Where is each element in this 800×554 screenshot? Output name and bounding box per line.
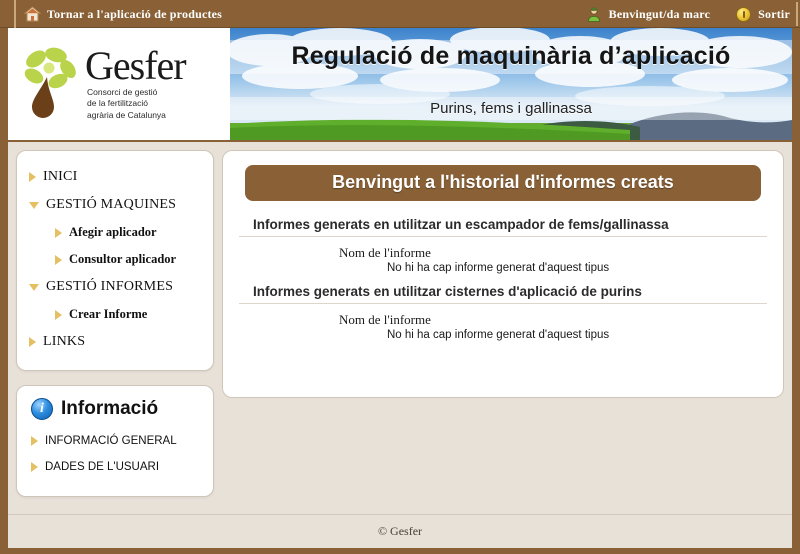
top-bar: Tornar a l'aplicació de productes Benvin… bbox=[0, 0, 800, 28]
logout-button[interactable]: Sortir bbox=[736, 7, 790, 22]
info-panel-header: i Informació bbox=[27, 396, 203, 428]
column-header-report-name: Nom de l'informe bbox=[239, 312, 767, 328]
sidebar-item-label: DADES DE L'USUARI bbox=[45, 461, 159, 473]
arrow-right-icon bbox=[55, 255, 62, 265]
empty-state-message: No hi ha cap informe generat d'aquest ti… bbox=[239, 262, 767, 274]
sidebar-item-inici[interactable]: INICI bbox=[25, 163, 205, 191]
banner-title: Regulació de maquinària d’aplicació bbox=[230, 42, 792, 71]
sidebar-item-label: Consultor aplicador bbox=[69, 252, 176, 267]
report-section: Informes generats en utilitzar un escamp… bbox=[239, 217, 767, 284]
sidebar-item-dades-usuari[interactable]: DADES DE L'USUARI bbox=[27, 454, 203, 480]
header-band: Gesfer Consorci de gestió de la fertilit… bbox=[8, 28, 792, 142]
sidebar-item-gestio-informes[interactable]: GESTIÓ INFORMES bbox=[25, 273, 205, 301]
sidebar-menu-panel: INICI GESTIÓ MAQUINES Afegir aplicador C… bbox=[16, 150, 214, 371]
sidebar-item-links[interactable]: LINKS bbox=[25, 328, 205, 356]
footer: © Gesfer bbox=[8, 514, 792, 548]
brand-tagline-line2: de la fertilització bbox=[87, 98, 186, 109]
top-bar-right: Benvingut/da marc Sortir bbox=[586, 0, 790, 28]
info-panel-title: Informació bbox=[61, 398, 158, 420]
sidebar-info-panel: i Informació INFORMACIÓ GENERAL DADES DE… bbox=[16, 385, 214, 497]
arrow-right-icon bbox=[29, 337, 36, 347]
gesfer-flower-logo-icon bbox=[20, 43, 82, 125]
body-area: INICI GESTIÓ MAQUINES Afegir aplicador C… bbox=[8, 144, 792, 548]
sidebar-item-informacio-general[interactable]: INFORMACIÓ GENERAL bbox=[27, 428, 203, 454]
sidebar-item-label: Afegir aplicador bbox=[69, 225, 157, 240]
brand-tagline-line3: agrària de Catalunya bbox=[87, 110, 186, 121]
sidebar-item-consultor-aplicador[interactable]: Consultor aplicador bbox=[25, 246, 205, 273]
page-root: Tornar a l'aplicació de productes Benvin… bbox=[0, 0, 800, 554]
power-icon bbox=[736, 7, 751, 22]
section-heading: Informes generats en utilitzar un escamp… bbox=[239, 217, 767, 237]
arrow-right-icon bbox=[29, 172, 36, 182]
column-header-report-name: Nom de l'informe bbox=[239, 245, 767, 261]
main-content-panel: Benvingut a l'historial d'informes creat… bbox=[222, 150, 784, 398]
sidebar-item-label: GESTIÓ MAQUINES bbox=[46, 197, 176, 213]
arrow-right-icon bbox=[55, 310, 62, 320]
sidebar-item-label: GESTIÓ INFORMES bbox=[46, 279, 173, 295]
brand-logo[interactable]: Gesfer Consorci de gestió de la fertilit… bbox=[8, 28, 230, 140]
sidebar-item-label: INFORMACIÓ GENERAL bbox=[45, 435, 177, 447]
arrow-down-icon bbox=[29, 202, 39, 209]
brand-name: Gesfer bbox=[85, 47, 186, 85]
arrow-down-icon bbox=[29, 284, 39, 291]
arrow-right-icon bbox=[31, 436, 38, 446]
banner-image: Regulació de maquinària d’aplicació Puri… bbox=[230, 28, 792, 140]
info-icon: i bbox=[31, 398, 53, 420]
brand-text: Gesfer Consorci de gestió de la fertilit… bbox=[85, 47, 186, 121]
sidebar-item-label: INICI bbox=[43, 169, 77, 185]
brand-tagline: Consorci de gestió de la fertilització a… bbox=[87, 87, 186, 121]
sidebar-item-label: Crear Informe bbox=[69, 307, 147, 322]
back-to-products-link[interactable]: Tornar a l'aplicació de productes bbox=[14, 0, 222, 28]
banner-subtitle: Purins, fems i gallinassa bbox=[230, 100, 792, 117]
home-icon bbox=[24, 6, 41, 22]
page-title: Benvingut a l'historial d'informes creat… bbox=[245, 165, 761, 201]
back-to-products-label: Tornar a l'aplicació de productes bbox=[47, 7, 222, 22]
sidebar: INICI GESTIÓ MAQUINES Afegir aplicador C… bbox=[16, 150, 214, 497]
report-section: Informes generats en utilitzar cisternes… bbox=[239, 284, 767, 351]
footer-copyright: © Gesfer bbox=[378, 524, 422, 539]
logout-label: Sortir bbox=[758, 7, 790, 22]
sidebar-item-crear-informe[interactable]: Crear Informe bbox=[25, 301, 205, 328]
report-list: Nom de l'informe No hi ha cap informe ge… bbox=[239, 304, 767, 351]
arrow-right-icon bbox=[55, 228, 62, 238]
user-icon bbox=[586, 6, 602, 22]
top-bar-divider bbox=[796, 2, 798, 26]
welcome-user: Benvingut/da marc bbox=[586, 6, 711, 22]
welcome-label: Benvingut/da marc bbox=[609, 7, 711, 22]
arrow-right-icon bbox=[31, 462, 38, 472]
section-heading: Informes generats en utilitzar cisternes… bbox=[239, 284, 767, 304]
sidebar-item-gestio-maquines[interactable]: GESTIÓ MAQUINES bbox=[25, 191, 205, 219]
empty-state-message: No hi ha cap informe generat d'aquest ti… bbox=[239, 329, 767, 341]
sidebar-item-afegir-aplicador[interactable]: Afegir aplicador bbox=[25, 219, 205, 246]
sidebar-item-label: LINKS bbox=[43, 334, 85, 350]
report-list: Nom de l'informe No hi ha cap informe ge… bbox=[239, 237, 767, 284]
brand-tagline-line1: Consorci de gestió bbox=[87, 87, 186, 98]
